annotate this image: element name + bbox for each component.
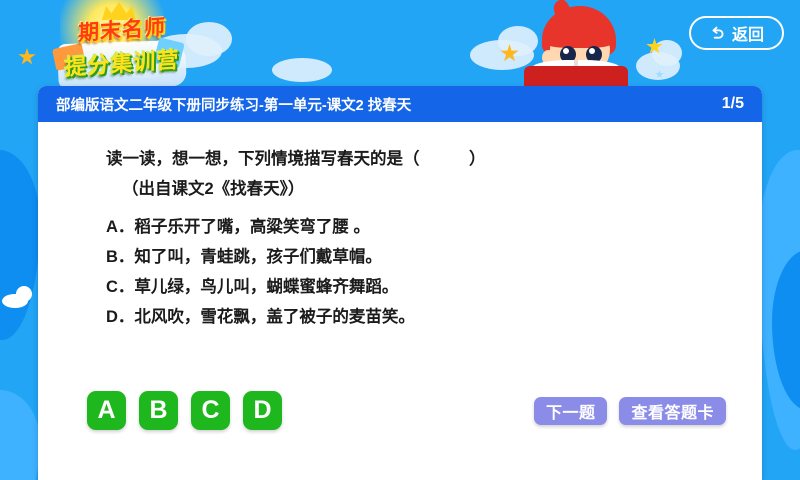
background-blob-left-dark [0,150,40,340]
cloud-icon-8 [272,58,332,82]
next-question-button[interactable]: 下一题 [534,397,608,425]
app-header: 期末名师 提分集训营 返回 [0,0,800,96]
question-stem: 读一读，想一想，下列情境描写春天的是（ ） [106,144,726,174]
option-text-c: C．草儿绿，鸟儿叫，蝴蝶蜜蜂齐舞蹈。 [106,272,415,302]
answer-choice-b[interactable]: B [139,391,178,430]
question-source: （出自课文2《找春天》） [106,174,726,204]
cloud-icon-left-puff [16,286,32,302]
answer-choice-group: A B C D [87,391,282,430]
question-counter: 1/5 [722,95,744,113]
answer-choice-d[interactable]: D [243,391,282,430]
question-card: 部编版语文二年级下册同步练习-第一单元-课文2 找春天 1/5 读一读，想一想，… [38,86,762,480]
mascot-boy-reading [520,4,630,96]
card-titlebar: 部编版语文二年级下册同步练习-第一单元-课文2 找春天 1/5 [38,86,762,122]
view-answer-card-button[interactable]: 查看答题卡 [619,397,726,425]
question-block: 读一读，想一想，下列情境描写春天的是（ ） （出自课文2《找春天》） [106,144,726,204]
answer-choice-c[interactable]: C [191,391,230,430]
undo-arrow-icon [709,25,726,42]
answer-choice-a[interactable]: A [87,391,126,430]
quiz-app-screen: 期末名师 提分集训营 返回 [0,0,800,480]
option-text-d: D．北风吹，雪花飘，盖了被子的麦苗笑。 [106,302,415,332]
cloud-icon-2 [186,22,232,56]
back-button-label: 返回 [732,21,764,45]
option-text-b: B．知了叫，青蛙跳，孩子们戴草帽。 [106,242,415,272]
option-text-a: A．稻子乐开了嘴，高粱笑弯了腰 。 [106,212,415,242]
app-logo: 期末名师 提分集训营 [52,2,192,90]
card-body: 读一读，想一想，下列情境描写春天的是（ ） （出自课文2《找春天》） A．稻子乐… [38,122,762,480]
back-button[interactable]: 返回 [689,16,784,50]
cloud-icon-7 [652,40,682,66]
background-blob-left-light [0,390,40,480]
option-list: A．稻子乐开了嘴，高粱笑弯了腰 。 B．知了叫，青蛙跳，孩子们戴草帽。 C．草儿… [106,212,415,332]
navigation-button-group: 下一题 查看答题卡 [534,397,726,425]
page-title: 部编版语文二年级下册同步练习-第一单元-课文2 找春天 [56,94,411,115]
